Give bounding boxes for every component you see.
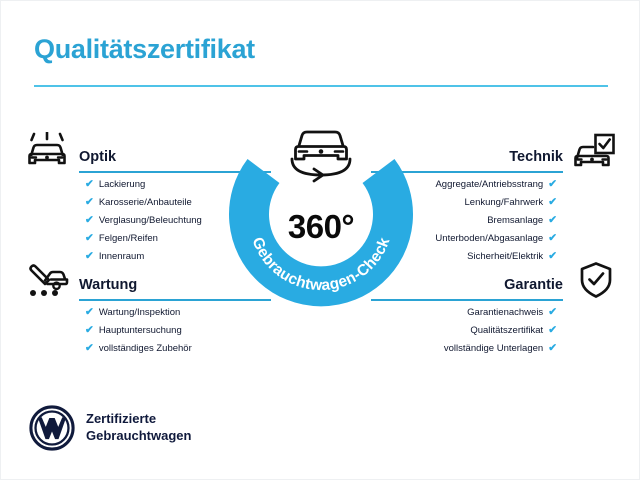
check-icon: ✔ [548, 307, 557, 318]
list-item: Garantienachweis ✔ [444, 307, 557, 318]
check-icon: ✔ [548, 343, 557, 354]
list-item-label: vollständiges Zubehör [99, 344, 192, 354]
list-item: ✔ Verglasung/Beleuchtung [85, 215, 202, 226]
list-item-label: Felgen/Reifen [99, 234, 158, 244]
check-icon: ✔ [85, 325, 94, 336]
check-icon: ✔ [85, 343, 94, 354]
list-item-label: Sicherheit/Elektrik [467, 252, 543, 262]
badge-degrees: 360° [226, 208, 416, 246]
section-heading-optik: Optik [79, 149, 116, 165]
check-icon: ✔ [85, 179, 94, 190]
section-heading-technik: Technik [509, 149, 563, 165]
list-item: ✔ vollständiges Zubehör [85, 343, 192, 354]
list-item: ✔ Hauptuntersuchung [85, 325, 192, 336]
checklist-technik: Aggregate/Antriebsstrang ✔ Lenkung/Fahrw… [435, 179, 557, 269]
list-item-label: Lenkung/Fahrwerk [465, 198, 544, 208]
list-item-label: Lackierung [99, 180, 145, 190]
check-icon: ✔ [548, 251, 557, 262]
list-item-label: vollständige Unterlagen [444, 344, 543, 354]
check-icon: ✔ [548, 197, 557, 208]
footer-line-1: Zertifizierte [86, 411, 191, 428]
list-item: vollständige Unterlagen ✔ [444, 343, 557, 354]
shield-check-icon [576, 260, 616, 305]
list-item: ✔ Karosserie/Anbauteile [85, 197, 202, 208]
check-icon: ✔ [548, 233, 557, 244]
list-item: Aggregate/Antriebsstrang ✔ [435, 179, 557, 190]
check-icon: ✔ [548, 325, 557, 336]
360-check-badge: Gebrauchtwagen-Check 360° [226, 123, 416, 313]
list-item-label: Hauptuntersuchung [99, 326, 182, 336]
check-icon: ✔ [85, 233, 94, 244]
certificate-page: Qualitätszertifikat [0, 0, 640, 480]
list-item: ✔ Felgen/Reifen [85, 233, 202, 244]
footer-text: Zertifizierte Gebrauchtwagen [86, 411, 191, 444]
checklist-garantie: Garantienachweis ✔ Qualitätszertifikat ✔… [444, 307, 557, 361]
list-item-label: Bremsanlage [487, 216, 543, 226]
list-item-label: Qualitätszertifikat [470, 326, 543, 336]
list-item-label: Unterboden/Abgasanlage [435, 234, 543, 244]
check-icon: ✔ [85, 197, 94, 208]
list-item: Bremsanlage ✔ [435, 215, 557, 226]
list-item-label: Karosserie/Anbauteile [99, 198, 192, 208]
check-icon: ✔ [548, 179, 557, 190]
list-item: Sicherheit/Elektrik ✔ [435, 251, 557, 262]
list-item: ✔ Innenraum [85, 251, 202, 262]
list-item: Qualitätszertifikat ✔ [444, 325, 557, 336]
footer-line-2: Gebrauchtwagen [86, 428, 191, 445]
section-heading-wartung: Wartung [79, 277, 137, 293]
car-shine-icon [23, 132, 71, 177]
list-item-label: Wartung/Inspektion [99, 308, 181, 318]
list-item-label: Aggregate/Antriebsstrang [435, 180, 543, 190]
section-heading-garantie: Garantie [504, 277, 563, 293]
wrench-car-icon [23, 260, 71, 305]
page-title: Qualitätszertifikat [34, 34, 255, 65]
footer-logo: Zertifizierte Gebrauchtwagen [29, 405, 191, 451]
list-item: Unterboden/Abgasanlage ✔ [435, 233, 557, 244]
list-item-label: Innenraum [99, 252, 144, 262]
title-divider [34, 85, 608, 87]
car-checkbox-icon [569, 132, 617, 177]
check-icon: ✔ [85, 215, 94, 226]
check-icon: ✔ [548, 215, 557, 226]
list-item: Lenkung/Fahrwerk ✔ [435, 197, 557, 208]
list-item-label: Garantienachweis [467, 308, 543, 318]
list-item-label: Verglasung/Beleuchtung [99, 216, 202, 226]
check-icon: ✔ [85, 251, 94, 262]
checklist-optik: ✔ Lackierung ✔ Karosserie/Anbauteile ✔ V… [85, 179, 202, 269]
vw-logo-icon [29, 405, 75, 451]
check-icon: ✔ [85, 307, 94, 318]
list-item: ✔ Wartung/Inspektion [85, 307, 192, 318]
car-rotation-icon [276, 117, 366, 189]
checklist-wartung: ✔ Wartung/Inspektion ✔ Hauptuntersuchung… [85, 307, 192, 361]
list-item: ✔ Lackierung [85, 179, 202, 190]
